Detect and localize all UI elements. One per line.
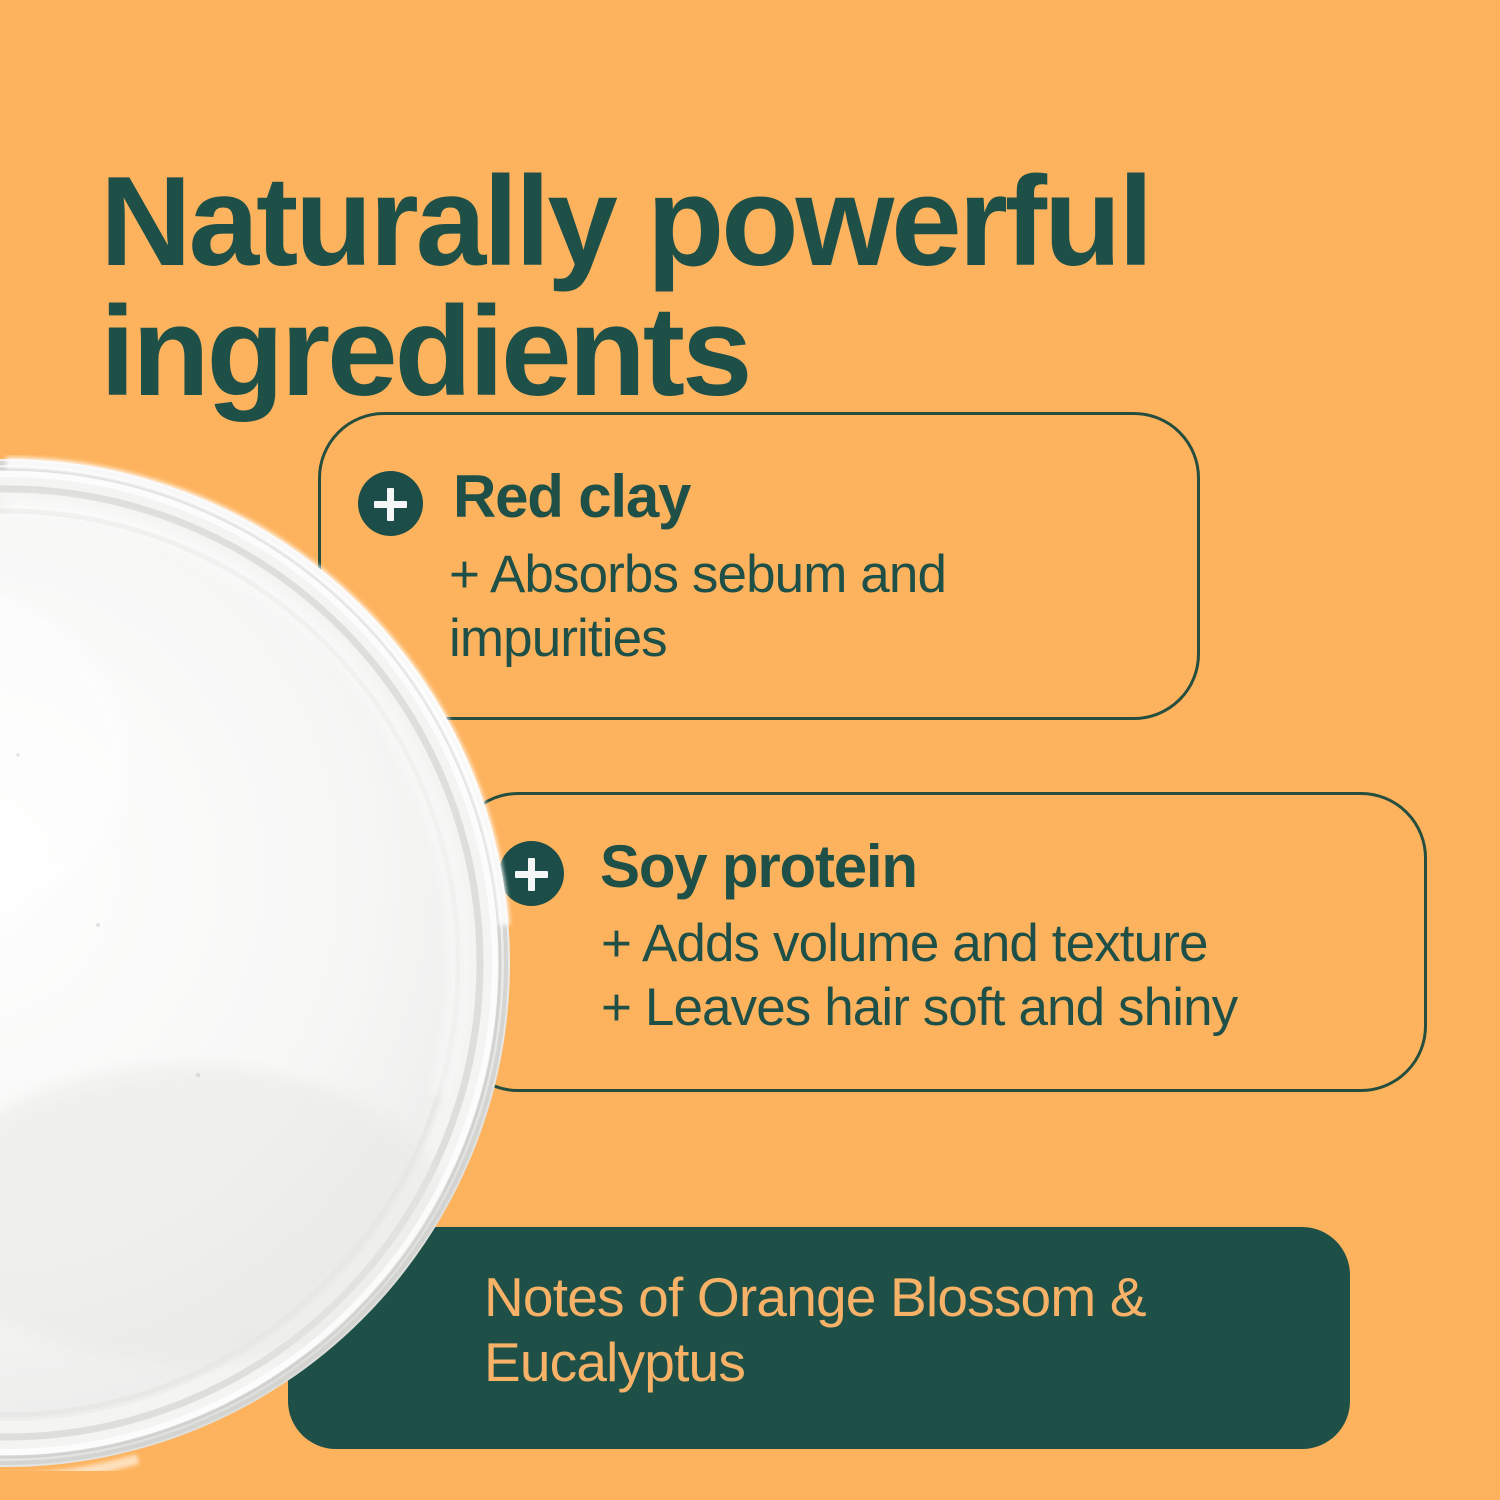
ingredient-name: Soy protein xyxy=(600,832,917,901)
ingredient-card-soy-protein: Soy protein + Adds volume and texture + … xyxy=(452,792,1427,1092)
page-title: Naturally powerful ingredients xyxy=(100,157,1280,416)
ingredient-name: Red clay xyxy=(453,462,690,531)
ingredient-benefit-list: + Adds volume and texture + Leaves hair … xyxy=(601,912,1421,1039)
plus-icon-vertical-bar xyxy=(528,858,535,891)
ingredient-card-red-clay: Red clay + Absorbs sebum and impurities xyxy=(318,412,1200,720)
ingredient-benefit: + Absorbs sebum and xyxy=(449,543,1149,607)
card-content: Soy protein + Adds volume and texture + … xyxy=(455,795,1424,1089)
plus-icon xyxy=(358,471,423,536)
ingredients-infographic: Naturally powerful ingredients Notes of … xyxy=(0,0,1500,1500)
ingredient-benefit: + Adds volume and texture xyxy=(601,912,1421,976)
plus-icon-vertical-bar xyxy=(387,488,394,521)
plus-icon xyxy=(499,841,564,906)
scent-banner-text: Notes of Orange Blossom & Eucalyptus xyxy=(484,1265,1314,1395)
scent-banner: Notes of Orange Blossom & Eucalyptus xyxy=(288,1227,1350,1449)
ingredient-benefit: impurities xyxy=(449,607,1149,671)
card-content: Red clay + Absorbs sebum and impurities xyxy=(321,415,1197,717)
ingredient-benefit-list: + Absorbs sebum and impurities xyxy=(449,543,1149,670)
ingredient-benefit: + Leaves hair soft and shiny xyxy=(601,976,1421,1040)
